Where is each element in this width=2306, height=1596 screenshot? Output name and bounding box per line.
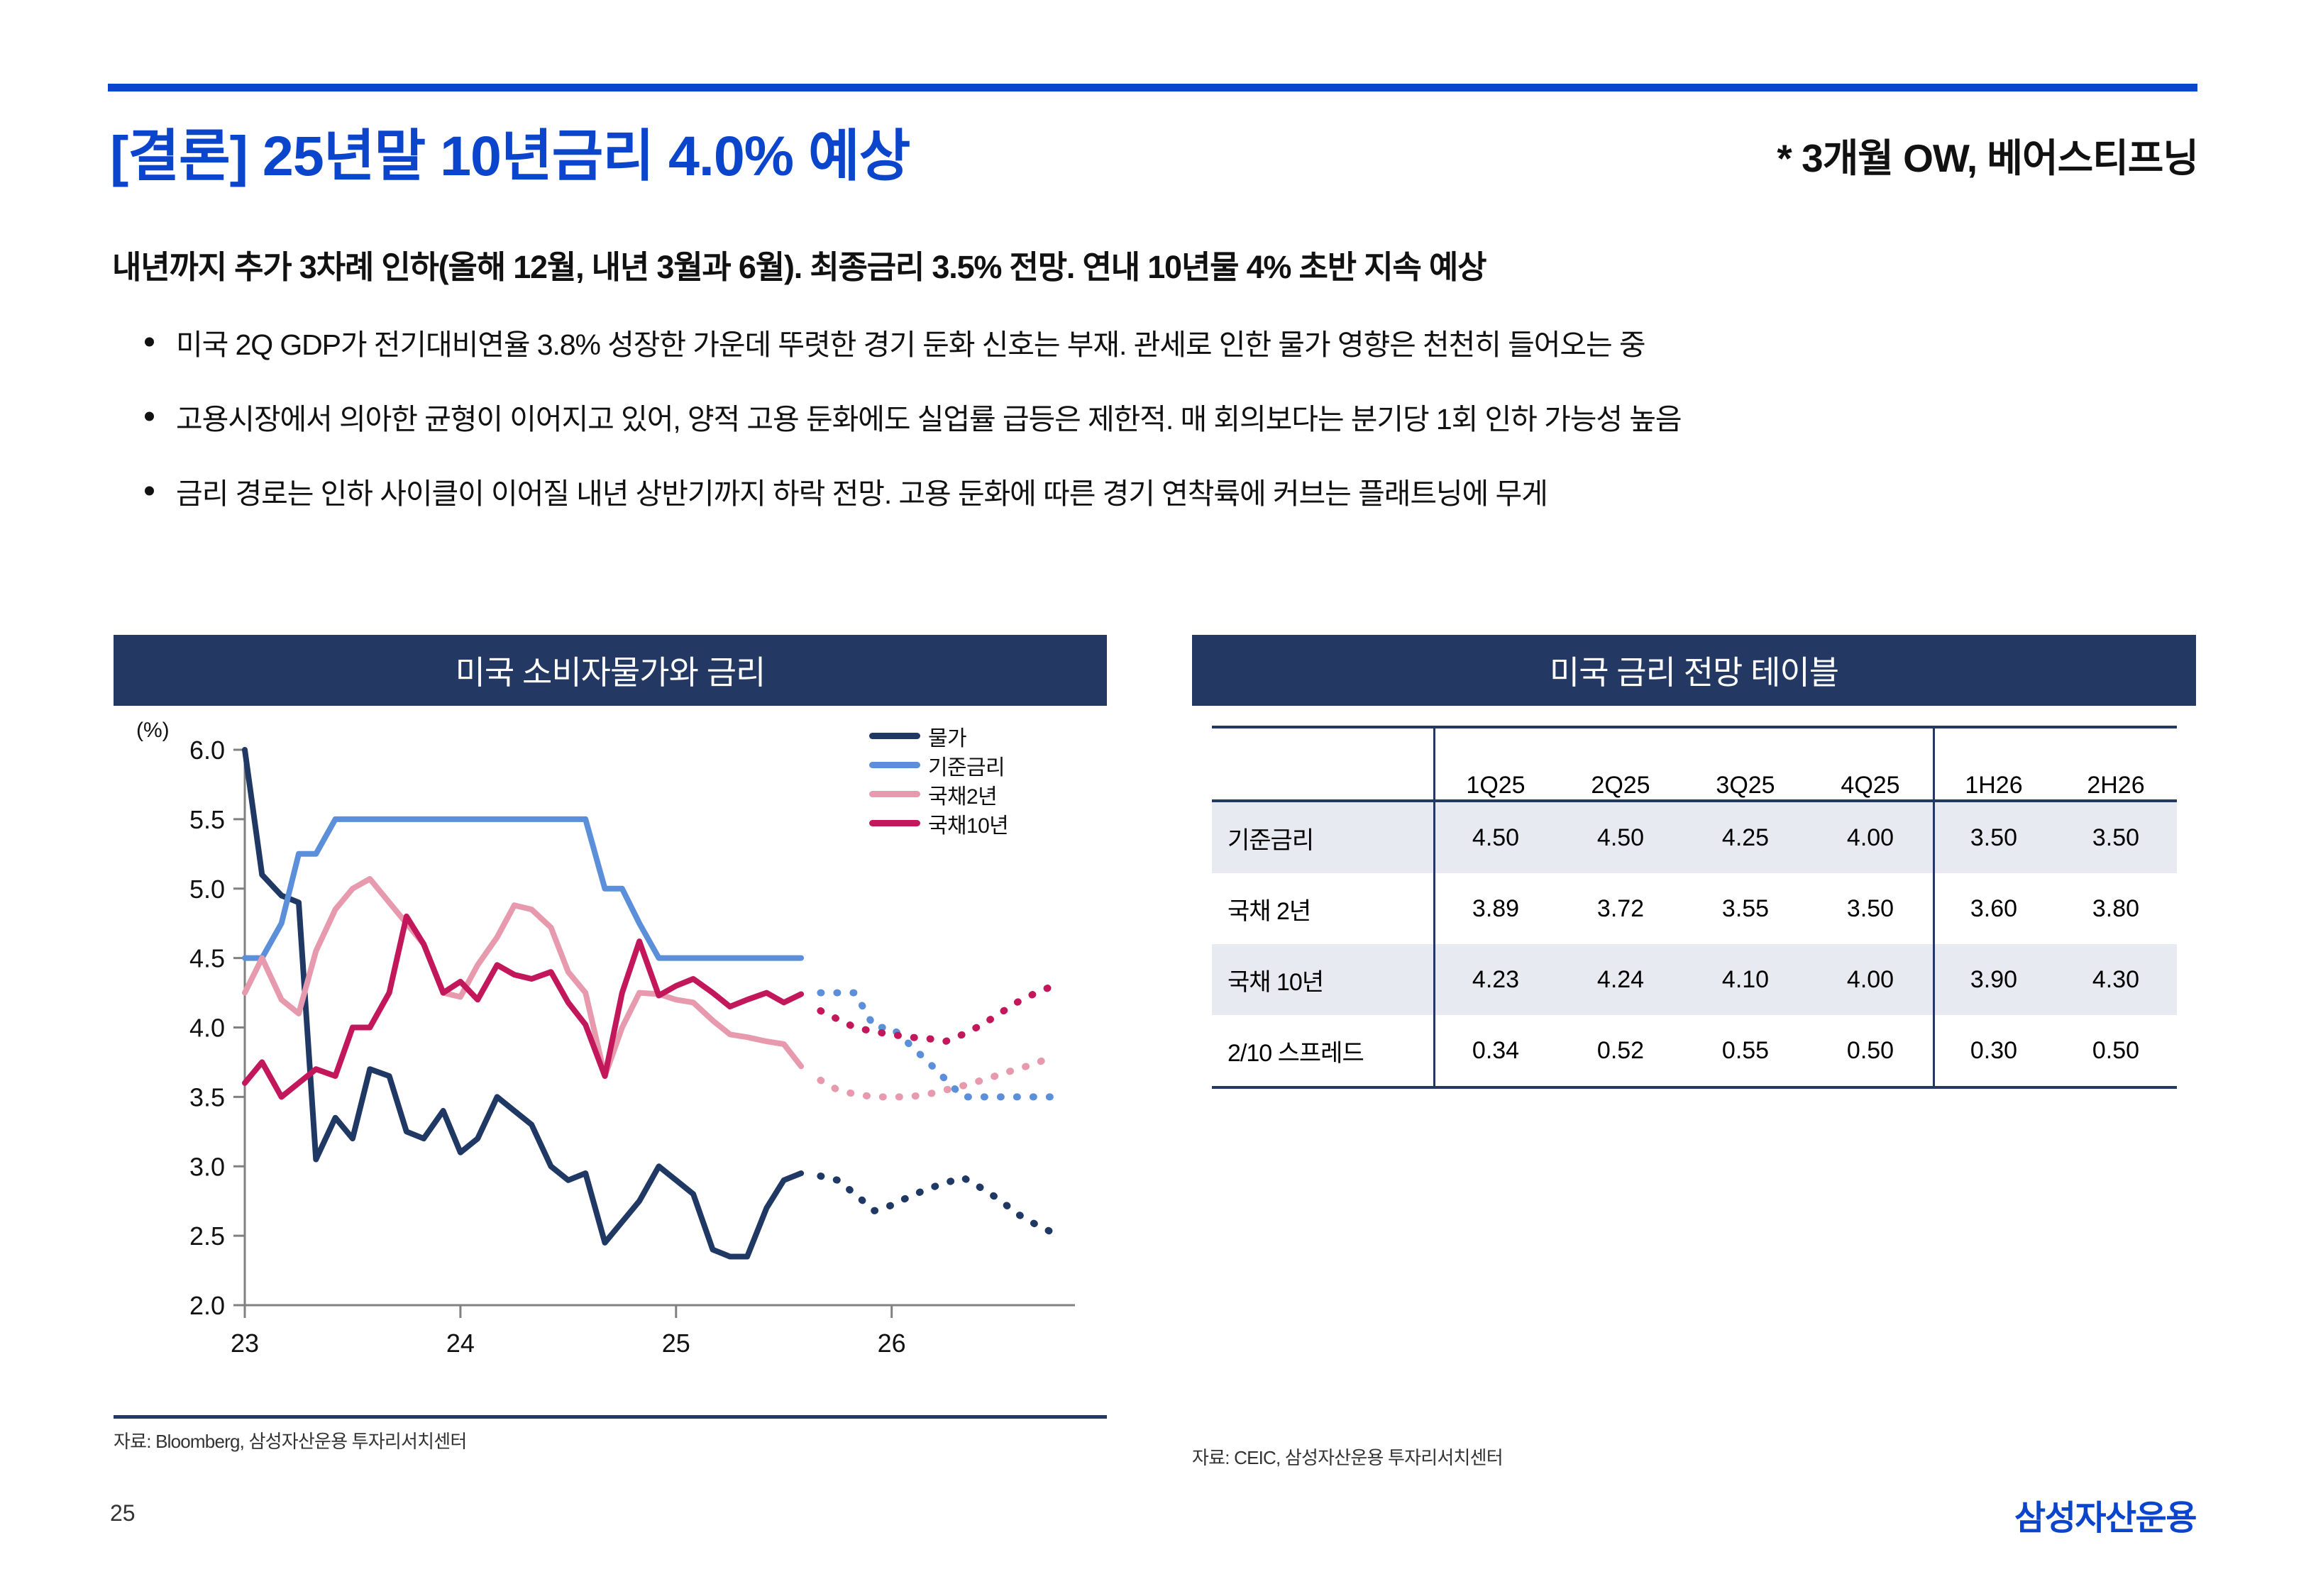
cell-ust2y-1q25: 3.89: [1433, 873, 1558, 944]
bullet-text: 미국 2Q GDP가 전기대비연율 3.8% 성장한 가운데 뚜렷한 경기 둔화…: [176, 328, 1645, 361]
svg-text:2.0: 2.0: [189, 1291, 225, 1320]
column-header-3q25: 3Q25: [1683, 727, 1808, 801]
cell-ust10y-2q25: 4.24: [1558, 944, 1683, 1015]
table-header-row: 1Q25 2Q25 3Q25 4Q25 1H26 2H26: [1212, 727, 2177, 801]
subtitle: 내년까지 추가 3차례 인하(올해 12월, 내년 3월과 6월). 최종금리 …: [112, 241, 1486, 287]
cell-ust10y-1q25: 4.23: [1433, 944, 1558, 1015]
cell-ust10y-4q25: 4.00: [1808, 944, 1933, 1015]
header-note: * 3개월 OW, 베어스티프닝: [1777, 126, 2198, 183]
bullet-dot-icon: [145, 487, 154, 496]
cell-spread-4q25: 0.50: [1808, 1015, 1933, 1087]
table-corner-cell: [1212, 727, 1433, 801]
column-header-1q25: 1Q25: [1433, 727, 1558, 801]
cell-ust10y-3q25: 4.10: [1683, 944, 1808, 1015]
row-label-ust10y: 국채 10년: [1212, 944, 1433, 1015]
svg-text:26: 26: [878, 1329, 906, 1358]
bullet-text: 금리 경로는 인하 사이클이 이어질 내년 상반기까지 하락 전망. 고용 둔화…: [176, 477, 1548, 510]
chart-plot-area: (%) 물가 기준금리 국채2년 국채10년: [114, 706, 1107, 1415]
table-container: 1Q25 2Q25 3Q25 4Q25 1H26 2H26 기준금리 4.50 …: [1192, 726, 2196, 1435]
table-body: 기준금리 4.50 4.50 4.25 4.00 3.50 3.50 국채 2년…: [1212, 801, 2177, 1093]
header-rule: [108, 84, 2197, 92]
table-bottom-rule-row: [1212, 1087, 2177, 1093]
chart-source-note: 자료: Bloomberg, 삼성자산운용 투자리서치센터: [114, 1419, 1107, 1453]
cell-ust10y-1h26: 3.90: [1933, 944, 2055, 1015]
table-row: 국채 10년 4.23 4.24 4.10 4.00 3.90 4.30: [1212, 944, 2177, 1015]
column-header-2h26: 2H26: [2055, 727, 2177, 801]
table-panel-title: 미국 금리 전망 테이블: [1192, 635, 2196, 706]
chart-panel-title: 미국 소비자물가와 금리: [114, 635, 1107, 706]
cell-policy-2q25: 4.50: [1558, 801, 1683, 873]
cell-policy-3q25: 4.25: [1683, 801, 1808, 873]
table-source-note: 자료: CEIC, 삼성자산운용 투자리서치센터: [1192, 1435, 2196, 1470]
list-item: 미국 2Q GDP가 전기대비연율 3.8% 성장한 가운데 뚜렷한 경기 둔화…: [142, 321, 2200, 363]
cell-policy-1h26: 3.50: [1933, 801, 2055, 873]
cell-policy-2h26: 3.50: [2055, 801, 2177, 873]
column-header-2q25: 2Q25: [1558, 727, 1683, 801]
cell-ust10y-2h26: 4.30: [2055, 944, 2177, 1015]
list-item: 금리 경로는 인하 사이클이 이어질 내년 상반기까지 하락 전망. 고용 둔화…: [142, 470, 2200, 512]
bullet-dot-icon: [145, 338, 154, 347]
svg-text:6.0: 6.0: [189, 736, 225, 765]
table-head: 1Q25 2Q25 3Q25 4Q25 1H26 2H26: [1212, 727, 2177, 801]
line-chart-svg: 2.02.53.03.54.04.55.05.56.023242526: [114, 706, 1107, 1415]
cell-spread-3q25: 0.55: [1683, 1015, 1808, 1087]
cell-spread-2q25: 0.52: [1558, 1015, 1683, 1087]
row-label-spread: 2/10 스프레드: [1212, 1015, 1433, 1087]
table-panel: 미국 금리 전망 테이블 1Q25 2Q25 3Q25 4Q25 1H26 2H…: [1192, 635, 2196, 1470]
page-number: 25: [110, 1500, 136, 1526]
svg-text:3.5: 3.5: [189, 1082, 225, 1112]
row-label-policy-rate: 기준금리: [1212, 801, 1433, 873]
svg-text:25: 25: [662, 1329, 690, 1358]
svg-text:5.5: 5.5: [189, 805, 225, 834]
cell-ust2y-1h26: 3.60: [1933, 873, 2055, 944]
table-row: 2/10 스프레드 0.34 0.52 0.55 0.50 0.30 0.50: [1212, 1015, 2177, 1087]
brand-logo: 삼성자산운용: [2014, 1490, 2196, 1539]
table-row: 기준금리 4.50 4.50 4.25 4.00 3.50 3.50: [1212, 801, 2177, 873]
forecast-table: 1Q25 2Q25 3Q25 4Q25 1H26 2H26 기준금리 4.50 …: [1212, 726, 2177, 1093]
slide-root: [결론] 25년말 10년금리 4.0% 예상 * 3개월 OW, 베어스티프닝…: [0, 0, 2306, 1596]
svg-text:3.0: 3.0: [189, 1152, 225, 1181]
svg-text:4.5: 4.5: [189, 944, 225, 973]
cell-ust2y-4q25: 3.50: [1808, 873, 1933, 944]
cell-policy-4q25: 4.00: [1808, 801, 1933, 873]
page-title: [결론] 25년말 10년금리 4.0% 예상: [110, 110, 910, 192]
bullet-dot-icon: [145, 412, 154, 421]
cell-spread-1h26: 0.30: [1933, 1015, 2055, 1087]
chart-panel: 미국 소비자물가와 금리 (%) 물가 기준금리 국채2년 국채10: [114, 635, 1107, 1453]
cell-ust2y-2q25: 3.72: [1558, 873, 1683, 944]
svg-text:24: 24: [446, 1329, 475, 1358]
cell-spread-2h26: 0.50: [2055, 1015, 2177, 1087]
cell-spread-1q25: 0.34: [1433, 1015, 1558, 1087]
list-item: 고용시장에서 의아한 균형이 이어지고 있어, 양적 고용 둔화에도 실업률 급…: [142, 395, 2200, 438]
bullet-list: 미국 2Q GDP가 전기대비연율 3.8% 성장한 가운데 뚜렷한 경기 둔화…: [142, 321, 2200, 544]
svg-text:23: 23: [231, 1329, 259, 1358]
svg-text:5.0: 5.0: [189, 875, 225, 904]
svg-text:2.5: 2.5: [189, 1221, 225, 1251]
row-label-ust2y: 국채 2년: [1212, 873, 1433, 944]
cell-policy-1q25: 4.50: [1433, 801, 1558, 873]
svg-text:4.0: 4.0: [189, 1014, 225, 1043]
cell-ust2y-2h26: 3.80: [2055, 873, 2177, 944]
cell-ust2y-3q25: 3.55: [1683, 873, 1808, 944]
bullet-text: 고용시장에서 의아한 균형이 이어지고 있어, 양적 고용 둔화에도 실업률 급…: [176, 403, 1681, 436]
table-row: 국채 2년 3.89 3.72 3.55 3.50 3.60 3.80: [1212, 873, 2177, 944]
column-header-4q25: 4Q25: [1808, 727, 1933, 801]
column-header-1h26: 1H26: [1933, 727, 2055, 801]
